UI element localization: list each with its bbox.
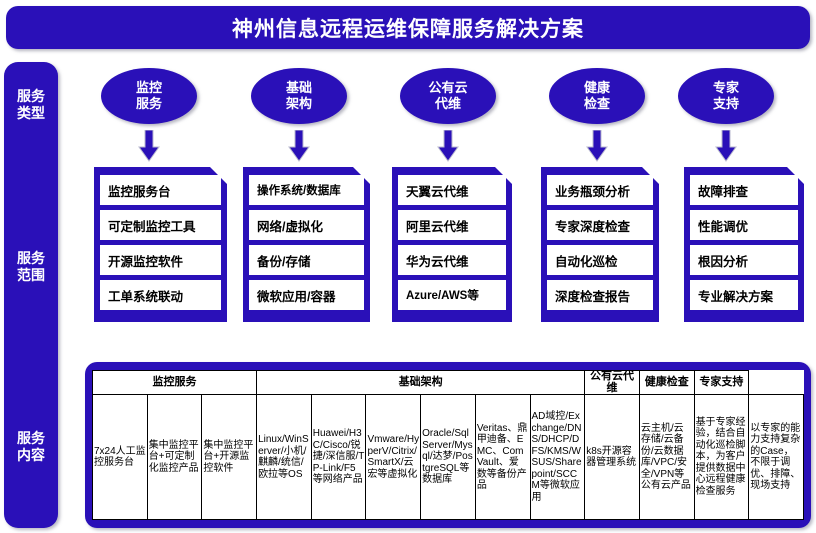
service-scope-item[interactable]: 阿里云代维 [398, 210, 506, 240]
down-arrow-icon [715, 130, 737, 162]
table-cell: Veritas、鼎甲迪备、EMC、ComVault、爱数等备份产品 [475, 395, 530, 520]
table-body: 7x24人工监控服务台集中监控平台+可定制化监控产品集中监控平台+开源监控软件L… [93, 395, 804, 520]
sidebar-label-service-type-line2: 类型 [4, 105, 58, 122]
service-scope-item[interactable]: 工单系统联动 [100, 280, 221, 310]
service-scope-item[interactable]: 业务瓶颈分析 [547, 175, 653, 205]
table-column-header: 监控服务 [93, 371, 257, 395]
service-type-label: 专家支持 [713, 80, 739, 112]
service-scope-item[interactable]: 天翼云代维 [398, 175, 506, 205]
service-type-label-line1: 基础 [286, 80, 312, 96]
service-scope-item[interactable]: 开源监控软件 [100, 245, 221, 275]
page-title: 神州信息远程运维保障服务解决方案 [6, 6, 810, 49]
service-type-label-line2: 支持 [713, 96, 739, 112]
service-scope-item[interactable]: 网络/虚拟化 [249, 210, 364, 240]
service-type-label-line2: 服务 [136, 96, 162, 112]
service-type-ellipse-4[interactable]: 健康检查 [549, 68, 645, 124]
service-scope-item[interactable]: 性能调优 [690, 210, 798, 240]
service-type-label-line1: 公有云 [428, 80, 467, 96]
table-header-row: 监控服务基础架构公有云代维健康检查专家支持 [93, 371, 804, 395]
service-type-label: 公有云代维 [428, 80, 467, 112]
service-scope-box-1: 监控服务台可定制监控工具开源监控软件工单系统联动 [94, 167, 227, 322]
down-arrow-icon [437, 130, 459, 162]
service-content-panel: 监控服务基础架构公有云代维健康检查专家支持 7x24人工监控服务台集中监控平台+… [85, 362, 811, 528]
diagram-root: 神州信息远程运维保障服务解决方案 服务 类型 服务 范围 服务 内容 监控服务监… [0, 0, 816, 533]
service-type-label-line2: 架构 [286, 96, 312, 112]
service-type-ellipse-3[interactable]: 公有云代维 [400, 68, 496, 124]
table-cell: Vmware/HyperV/Citrix/SmartX/云宏等虚拟化 [366, 395, 421, 520]
service-type-label-line2: 代维 [428, 96, 467, 112]
sidebar-label-service-type-line1: 服务 [4, 88, 58, 105]
table-cell: AD域控/Exchange/DNS/DHCP/DFS/KMS/WSUS/Shar… [530, 395, 585, 520]
service-scope-box-2: 操作系统/数据库网络/虚拟化备份/存储微软应用/容器 [243, 167, 370, 322]
table-cell: Linux/WinServer/小机/麒麟/统信/欧拉等OS [257, 395, 312, 520]
table-cell: k8s开源容器管理系统 [585, 395, 640, 520]
table-cell: 集中监控平台+开源监控软件 [202, 395, 257, 520]
service-type-ellipse-1[interactable]: 监控服务 [101, 68, 197, 124]
table-cell: 基于专家经验，结合自动化巡检脚本，为客户提供数据中心远程健康检查服务 [694, 395, 749, 520]
sidebar-label-service-scope-line1: 服务 [4, 250, 58, 267]
service-type-ellipse-2[interactable]: 基础架构 [251, 68, 347, 124]
service-type-label: 基础架构 [286, 80, 312, 112]
sidebar-label-service-scope-line2: 范围 [4, 267, 58, 284]
sidebar-label-service-content: 服务 内容 [4, 430, 58, 464]
service-scope-item[interactable]: Azure/AWS等 [398, 280, 506, 310]
service-scope-item[interactable]: 可定制监控工具 [100, 210, 221, 240]
service-scope-item[interactable]: 专业解决方案 [690, 280, 798, 310]
service-type-label-line1: 专家 [713, 80, 739, 96]
service-type-label: 监控服务 [136, 80, 162, 112]
category-sidebar: 服务 类型 服务 范围 服务 内容 [4, 62, 58, 528]
service-type-label: 健康检查 [584, 80, 610, 112]
sidebar-label-service-content-line1: 服务 [4, 430, 58, 447]
table-cell: 云主机/云存储/云备份/云数据库/VPC/安全/VPN等公有云产品 [639, 395, 694, 520]
service-scope-item[interactable]: 自动化巡检 [547, 245, 653, 275]
service-scope-item[interactable]: 深度检查报告 [547, 280, 653, 310]
service-scope-item[interactable]: 专家深度检查 [547, 210, 653, 240]
table-cell: Huawei/H3C/Cisco/锐捷/深信服/TP-Link/F5等网络产品 [311, 395, 366, 520]
table-cell: 以专家的能力支持复杂的Case，不限于调优、排障、现场支持 [749, 395, 804, 520]
table-head: 监控服务基础架构公有云代维健康检查专家支持 [93, 371, 804, 395]
table-column-header: 公有云代维 [585, 371, 640, 395]
service-scope-box-5: 故障排查性能调优根因分析专业解决方案 [684, 167, 804, 322]
table-cell: Oracle/SqlServer/Mysql/达梦/PostgreSQL等数据库 [421, 395, 476, 520]
service-scope-box-4: 业务瓶颈分析专家深度检查自动化巡检深度检查报告 [541, 167, 659, 322]
service-type-label-line1: 健康 [584, 80, 610, 96]
sidebar-label-service-type: 服务 类型 [4, 88, 58, 122]
service-scope-item[interactable]: 操作系统/数据库 [249, 175, 364, 205]
service-scope-box-3: 天翼云代维阿里云代维华为云代维Azure/AWS等 [392, 167, 512, 322]
service-scope-item[interactable]: 华为云代维 [398, 245, 506, 275]
sidebar-label-service-content-line2: 内容 [4, 447, 58, 464]
service-scope-item[interactable]: 备份/存储 [249, 245, 364, 275]
table-column-header: 专家支持 [694, 371, 749, 395]
service-scope-item[interactable]: 微软应用/容器 [249, 280, 364, 310]
table-cell: 7x24人工监控服务台 [93, 395, 148, 520]
service-type-label-line1: 监控 [136, 80, 162, 96]
down-arrow-icon [586, 130, 608, 162]
service-type-label-line2: 检查 [584, 96, 610, 112]
down-arrow-icon [138, 130, 160, 162]
service-scope-item[interactable]: 根因分析 [690, 245, 798, 275]
down-arrow-icon [288, 130, 310, 162]
service-scope-item[interactable]: 故障排查 [690, 175, 798, 205]
sidebar-label-service-scope: 服务 范围 [4, 250, 58, 284]
table-column-header: 健康检查 [639, 371, 694, 395]
service-scope-item[interactable]: 监控服务台 [100, 175, 221, 205]
service-type-ellipse-5[interactable]: 专家支持 [678, 68, 774, 124]
table-row: 7x24人工监控服务台集中监控平台+可定制化监控产品集中监控平台+开源监控软件L… [93, 395, 804, 520]
service-content-table: 监控服务基础架构公有云代维健康检查专家支持 7x24人工监控服务台集中监控平台+… [92, 370, 804, 520]
table-column-header: 基础架构 [257, 371, 585, 395]
table-cell: 集中监控平台+可定制化监控产品 [147, 395, 202, 520]
